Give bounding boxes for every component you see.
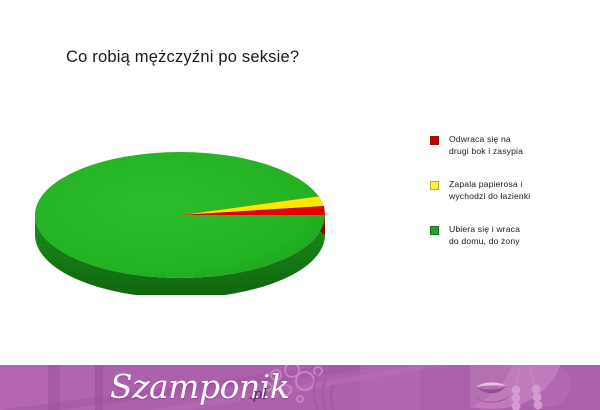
legend-label-1: Zapala papierosa i wychodzi do łazienki	[449, 179, 530, 202]
legend-swatch-yellow	[430, 181, 439, 190]
legend-label-0: Odwraca się na drugi bok i zasypia	[449, 134, 523, 157]
watermark-banner-art	[0, 365, 600, 410]
watermark-suffix: .pl	[248, 385, 267, 403]
watermark-banner: Szamponik .pl	[0, 365, 600, 410]
legend-item-1: Zapala papierosa i wychodzi do łazienki	[430, 179, 595, 202]
legend-item-2: Ubiera się i wraca do domu, do żony	[430, 224, 595, 247]
legend-swatch-red	[430, 136, 439, 145]
legend-swatch-green	[430, 226, 439, 235]
chart-image: Co robią mężczyźni po seksie?	[0, 0, 600, 410]
pie-chart	[30, 140, 330, 295]
legend-item-0: Odwraca się na drugi bok i zasypia	[430, 134, 595, 157]
pie-chart-svg	[30, 140, 330, 295]
page-title: Co robią mężczyźni po seksie?	[66, 48, 299, 67]
chart-legend: Odwraca się na drugi bok i zasypia Zapal…	[430, 134, 595, 269]
legend-label-2: Ubiera się i wraca do domu, do żony	[449, 224, 520, 247]
